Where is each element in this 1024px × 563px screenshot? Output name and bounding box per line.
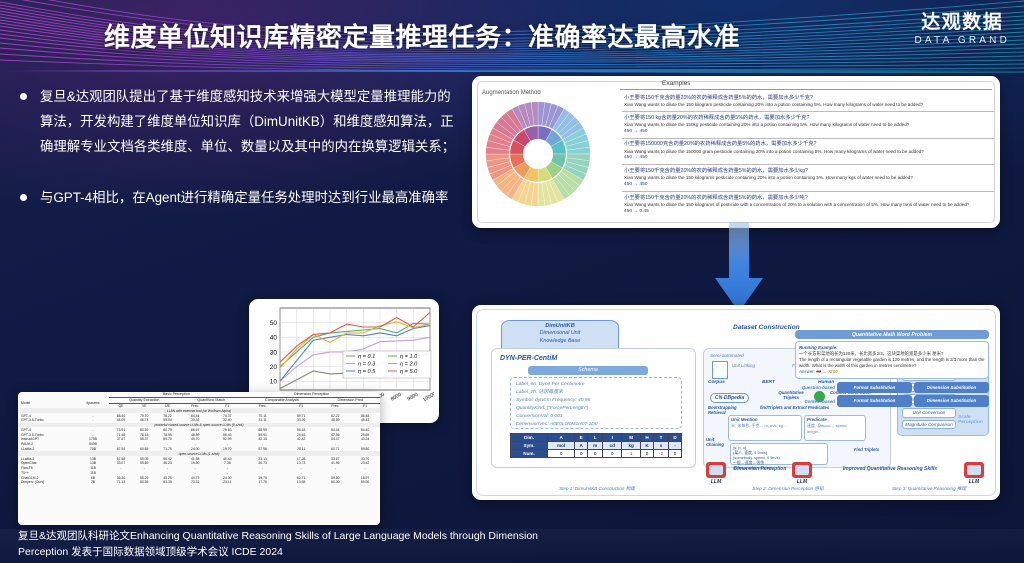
example-en: The length of a rectangular vegetable ga… — [799, 357, 985, 369]
dim-cell: kg — [622, 442, 641, 450]
dim-cell: m — [588, 442, 603, 450]
cell-value: 17.78 — [243, 480, 282, 485]
cell-value: 71.13 — [109, 480, 132, 485]
corpus-label: Corpus — [708, 380, 725, 385]
bullet-text: 复旦&达观团队提出了基于维度感知技术来增强大模型定量推理能力的算法，开发构建了维… — [40, 84, 460, 159]
llm-node-3: LLM — [961, 462, 987, 485]
dim-row-label: Num. — [511, 450, 548, 458]
svg-text:50: 50 — [270, 320, 278, 327]
svg-text:10: 10 — [270, 379, 278, 386]
cell-value: 80.59 — [133, 480, 156, 485]
task-unit-conversion[interactable]: Unit Conversion — [902, 408, 956, 418]
dim-cell: 0 — [641, 450, 654, 458]
flow-label-improved-reasoning: Improved Quantitative Reasoning Skills — [823, 466, 957, 472]
logo-chinese: 达观数据 — [914, 12, 1010, 34]
architecture-frame: DimUnitKB Dimensional Unit Knowledge Bas… — [476, 309, 996, 496]
step1-box: DYN-PER-CentiM Schema Label_en: Dyne Per… — [491, 348, 696, 468]
results-table-body: LLMs with external tool (w/ Wolfram Alph… — [18, 408, 380, 485]
question-dimension-substitution[interactable]: Dimension Substitution — [914, 382, 989, 393]
dim-cell: H — [641, 434, 654, 442]
dim-cell: I — [603, 434, 622, 442]
svg-text:η = 1.0: η = 1.0 — [400, 354, 418, 360]
llm-label: LLM — [961, 479, 987, 485]
dyn-per-centim-title: DYN-PER-CentiM — [500, 355, 557, 362]
augmentation-rows: 小王要将150千克含药量20%的农药稀释成含药量5%的药水，需要加水多少千克? … — [622, 92, 994, 218]
row-en: Xiao Wang wants to dilute the 150 kilogr… — [624, 175, 992, 182]
qmwp-title: Quantitative Math Word Problem — [795, 330, 989, 339]
col-model: Model — [18, 397, 77, 408]
svg-text:η = 0.1: η = 0.1 — [358, 354, 375, 360]
results-table-panel: Basic Perception Dimension Perception Mo… — [18, 392, 380, 525]
cell-value: 60.00 — [320, 480, 350, 485]
predicate-box: Predicate 速度, 身высо… speed, length… — [804, 415, 866, 441]
row-en: Xiao Wang wants to dilute the 150 kilogr… — [624, 102, 992, 109]
slide-root: 维度单位知识库精密定量推理任务：准确率达最高水准 达观数据 DATA GRAND… — [0, 0, 1024, 563]
schema-header: Schema — [528, 366, 648, 375]
predicate-values: 速度, 身высо… speed, length… — [805, 423, 865, 434]
svg-text:8000: 8000 — [390, 392, 403, 403]
row-zh: 小王要将150000克含药量20%的农药稀释成含药量5%的药水，需要加水多少千克… — [624, 141, 992, 149]
row-en: Xiao Wang wants to dilute the 150kg pest… — [624, 122, 992, 129]
flow-label-dimension-perception: Dimension Perception — [733, 466, 787, 472]
dim-cell: cd — [603, 442, 622, 450]
svg-text:40: 40 — [270, 335, 278, 342]
schema-field: Label_zh: 达因每厘米 — [516, 389, 676, 397]
step-3-label: Step 3: Quantitative Reasoning 推理 — [869, 486, 989, 492]
augmentation-examples-panel: Augmentation Method Examples 小王要将150千克含药… — [472, 76, 1000, 228]
augmentation-row: 小王要将150000克含药量20%的农药稀释成含药量5%的药水，需要加水多少千克… — [622, 139, 994, 166]
cn-dbpedia-chip: CN-DBpedia — [710, 393, 749, 403]
svg-text:η = 5.0: η = 5.0 — [400, 369, 418, 375]
augmentation-row: 小王要将150 kg含药量20%的农药稀释成含药量5%的药水，需要加水多少千克?… — [622, 112, 994, 139]
schema-field: QuantityKind: ["ForcePerLength"] — [516, 405, 676, 413]
results-table-head: Basic Perception Dimension Perception Mo… — [18, 392, 380, 408]
dim-cell: M — [622, 434, 641, 442]
dim-cell: 0 — [603, 450, 622, 458]
dim-cell: T — [653, 434, 668, 442]
down-arrow-icon — [703, 222, 775, 314]
augmentation-row: 小王要将150千克含药量20%的农药稀释成含药量5%的药水，需要加水多少千克? … — [622, 92, 994, 112]
dim-table-row: Num.000010-20 — [511, 450, 682, 458]
predicate-label: Predicate — [805, 416, 865, 423]
bootstrapping-retrieval-label: Bootstrapping Retrieval — [708, 405, 750, 415]
unit-linking-label: Unit Linking — [732, 363, 755, 368]
robot-icon — [706, 462, 726, 478]
page-title: 维度单位知识库精密定量推理任务：准确率达最高水准 — [104, 17, 740, 54]
row-en: Xiao Wang wants to dilute the 150000 gra… — [624, 149, 992, 156]
row-zh: 小王要将150 kg含药量20%的农药稀释成含药量5%的药水，需要加水多少千克? — [624, 115, 992, 123]
dim-cell: 0 — [669, 450, 682, 458]
task-magnitude-comparison[interactable]: Magnitude Comparison — [902, 420, 956, 430]
kb-sub-2: Knowledge Base — [502, 338, 618, 346]
dim-row-label: Dim. — [511, 434, 548, 442]
group-scale-perception: Scale Perception — [958, 415, 984, 425]
answer-new: 7200 — [828, 369, 838, 374]
llm-label: LLM — [703, 479, 729, 485]
dim-cell: E — [575, 434, 588, 442]
bullet-dot-icon — [20, 93, 27, 100]
cell-value: 59.90 — [350, 480, 380, 485]
question-format-substitution[interactable]: Format Substitution — [837, 382, 912, 393]
results-table: Basic Perception Dimension Perception Mo… — [18, 392, 380, 485]
architecture-diagram-panel: DimUnitKB Dimensional Unit Knowledge Bas… — [472, 305, 1000, 500]
cell-value: 23.11 — [211, 480, 243, 485]
dim-cell: A — [548, 434, 575, 442]
brand-logo: 达观数据 DATA GRAND — [914, 12, 1010, 48]
row-answer: 450 → 450 — [624, 155, 992, 162]
step-2-label: Step 2: Dimension Perception 感知 — [713, 486, 863, 492]
table-row: Dimperc (Ours)7B71.1380.5983.3573.3123.1… — [18, 480, 380, 485]
augmentation-row: 小王要将150千克含药量20%的农药稀释成含药量5%的药水，需要加水多少kg? … — [622, 165, 994, 192]
cell-value: 73.31 — [179, 480, 211, 485]
llm-node-1: LLM — [703, 462, 729, 485]
header-divider — [0, 70, 1024, 72]
unit-mention-values: 米, 米每秒, 千克… m, m/s, kg… — [729, 423, 801, 429]
kb-sub-1: Dimensional Unit — [502, 330, 618, 338]
dimension-vector-table: Dim.AELIMHTDSym.molAmcdkgKs-Num.000010-2… — [510, 433, 682, 458]
bullet-list: 复旦&达观团队提出了基于维度感知技术来增强大模型定量推理能力的算法，开发构建了维… — [18, 84, 460, 236]
svg-text:η = 0.5: η = 0.5 — [358, 369, 376, 375]
svg-text:20: 20 — [270, 364, 278, 371]
svg-text:η = 2.0: η = 2.0 — [400, 362, 418, 368]
svg-text:30: 30 — [270, 349, 278, 356]
svg-text:10000: 10000 — [422, 391, 434, 403]
context-dimension-substitution[interactable]: Dimension Substitution — [914, 395, 989, 406]
col-params: #params — [77, 397, 110, 408]
row-zh: 小王要将150千克含药量20%的农药稀释成含药量5%的药水，需要加水多少kg? — [624, 168, 992, 176]
cell-model: Dimperc (Ours) — [18, 480, 77, 485]
dim-cell: - — [669, 442, 682, 450]
unit-chaining-label: Unit Chaining — [706, 437, 728, 447]
schema-body: Label_en: Dyne Per Centimetre Label_zh: … — [510, 377, 682, 429]
cell-value: 83.35 — [156, 480, 179, 485]
examples-rule — [620, 89, 992, 90]
robot-icon — [964, 462, 984, 478]
answer-old: 72 — [816, 369, 821, 374]
dim-cell: L — [588, 434, 603, 442]
running-example-box: Running Example: 一个长方形菜地的长为120米，长比宽多2/3，… — [795, 341, 989, 379]
schema-field: Symbol: dyn/cm Frequency: 40.96 — [516, 397, 676, 405]
svg-text:9000: 9000 — [407, 392, 420, 403]
dim-table-row: Dim.AELIMHTD — [511, 434, 682, 442]
dim-cell: 0 — [588, 450, 603, 458]
step-1-label: Step 1: DimUnitKB Construction 构建 — [517, 486, 677, 492]
dim-cell: mol — [548, 442, 575, 450]
dim-cell: D — [669, 434, 682, 442]
bullet-item: 复旦&达观团队提出了基于维度感知技术来增强大模型定量推理能力的算法，开发构建了维… — [18, 84, 460, 159]
dim-cell: 1 — [622, 450, 641, 458]
robot-icon — [792, 462, 812, 478]
unit-mention-box: Unit Mention 米, 米每秒, 千克… m, m/s, kg… — [728, 415, 802, 441]
bullet-item: 与GPT-4相比，在Agent进行精确定量任务处理时达到行业最高准确率 — [18, 185, 460, 210]
dim-row-label: Sym. — [511, 442, 548, 450]
llm-node-2: LLM — [789, 462, 815, 485]
dim-cell: 0 — [575, 450, 588, 458]
schema-field: ConversionVal: 0.001 — [516, 413, 676, 421]
dim-table-row: Sym.molAmcdkgKs- — [511, 442, 682, 450]
bullet-dot-icon — [20, 194, 27, 201]
bullet-text: 与GPT-4相比，在Agent进行精确定量任务处理时达到行业最高准确率 — [40, 185, 448, 210]
kb-title: DimUnitKB — [502, 323, 618, 330]
augmentation-row: 小王要将150千克含药量20%的农药稀释成含药量5%的药水，需要加水多少吨? X… — [622, 192, 994, 218]
chart-ylabel: Accuracy(%) — [249, 299, 251, 334]
cell-value: 13.65 — [282, 480, 321, 485]
semi-automated-label: Semi-automated — [710, 353, 744, 358]
sunburst-chart-icon — [482, 98, 594, 210]
context-based-label: Context-based — [795, 399, 835, 404]
context-format-substitution[interactable]: Format Substitution — [837, 395, 912, 406]
dim-cell: s — [653, 442, 668, 450]
cell-params: 7B — [77, 480, 110, 485]
bottom-gloss — [0, 529, 1024, 563]
row-answer: 450 → 450 — [624, 182, 992, 189]
question-based-label: Question-based — [795, 385, 835, 390]
logo-english: DATA GRAND — [914, 34, 1010, 48]
row-en: Xiao Wang wants to dilute the 150 kilogr… — [624, 202, 992, 209]
dim-cell: K — [641, 442, 654, 450]
dataset-construction-title: Dataset Construction — [733, 324, 800, 331]
dim-cell: A — [575, 442, 588, 450]
schema-field: Label_en: Dyne Per Centimetre — [516, 381, 676, 389]
dim-cell: -2 — [653, 450, 668, 458]
unit-mention-label: Unit Mention — [729, 416, 801, 423]
augmentation-method-label: Augmentation Method — [482, 90, 541, 96]
augmentation-examples-label: Examples — [662, 80, 691, 87]
find-triplets-label: Find Triplets — [854, 447, 880, 452]
corpus-icon — [712, 361, 728, 379]
llm-label: LLM — [789, 479, 815, 485]
row-answer: 450 → 450 — [624, 129, 992, 136]
bert-label: BERT — [762, 380, 775, 385]
svg-text:η = 0.3: η = 0.3 — [358, 362, 376, 368]
answer-label: Answer: — [799, 369, 815, 374]
row-zh: 小王要将150千克含药量20%的农药稀释成含药量5%的药水，需要加水多少千克? — [624, 95, 992, 103]
row-answer: 450 → 0.45 — [624, 209, 992, 216]
row-zh: 小王要将150千克含药量20%的农药稀释成含药量5%的药水，需要加水多少吨? — [624, 195, 992, 203]
dim-cell: 0 — [548, 450, 575, 458]
schema-field: DimensionVec: A0E0L0I0M1H0T-2D0 — [516, 421, 676, 429]
